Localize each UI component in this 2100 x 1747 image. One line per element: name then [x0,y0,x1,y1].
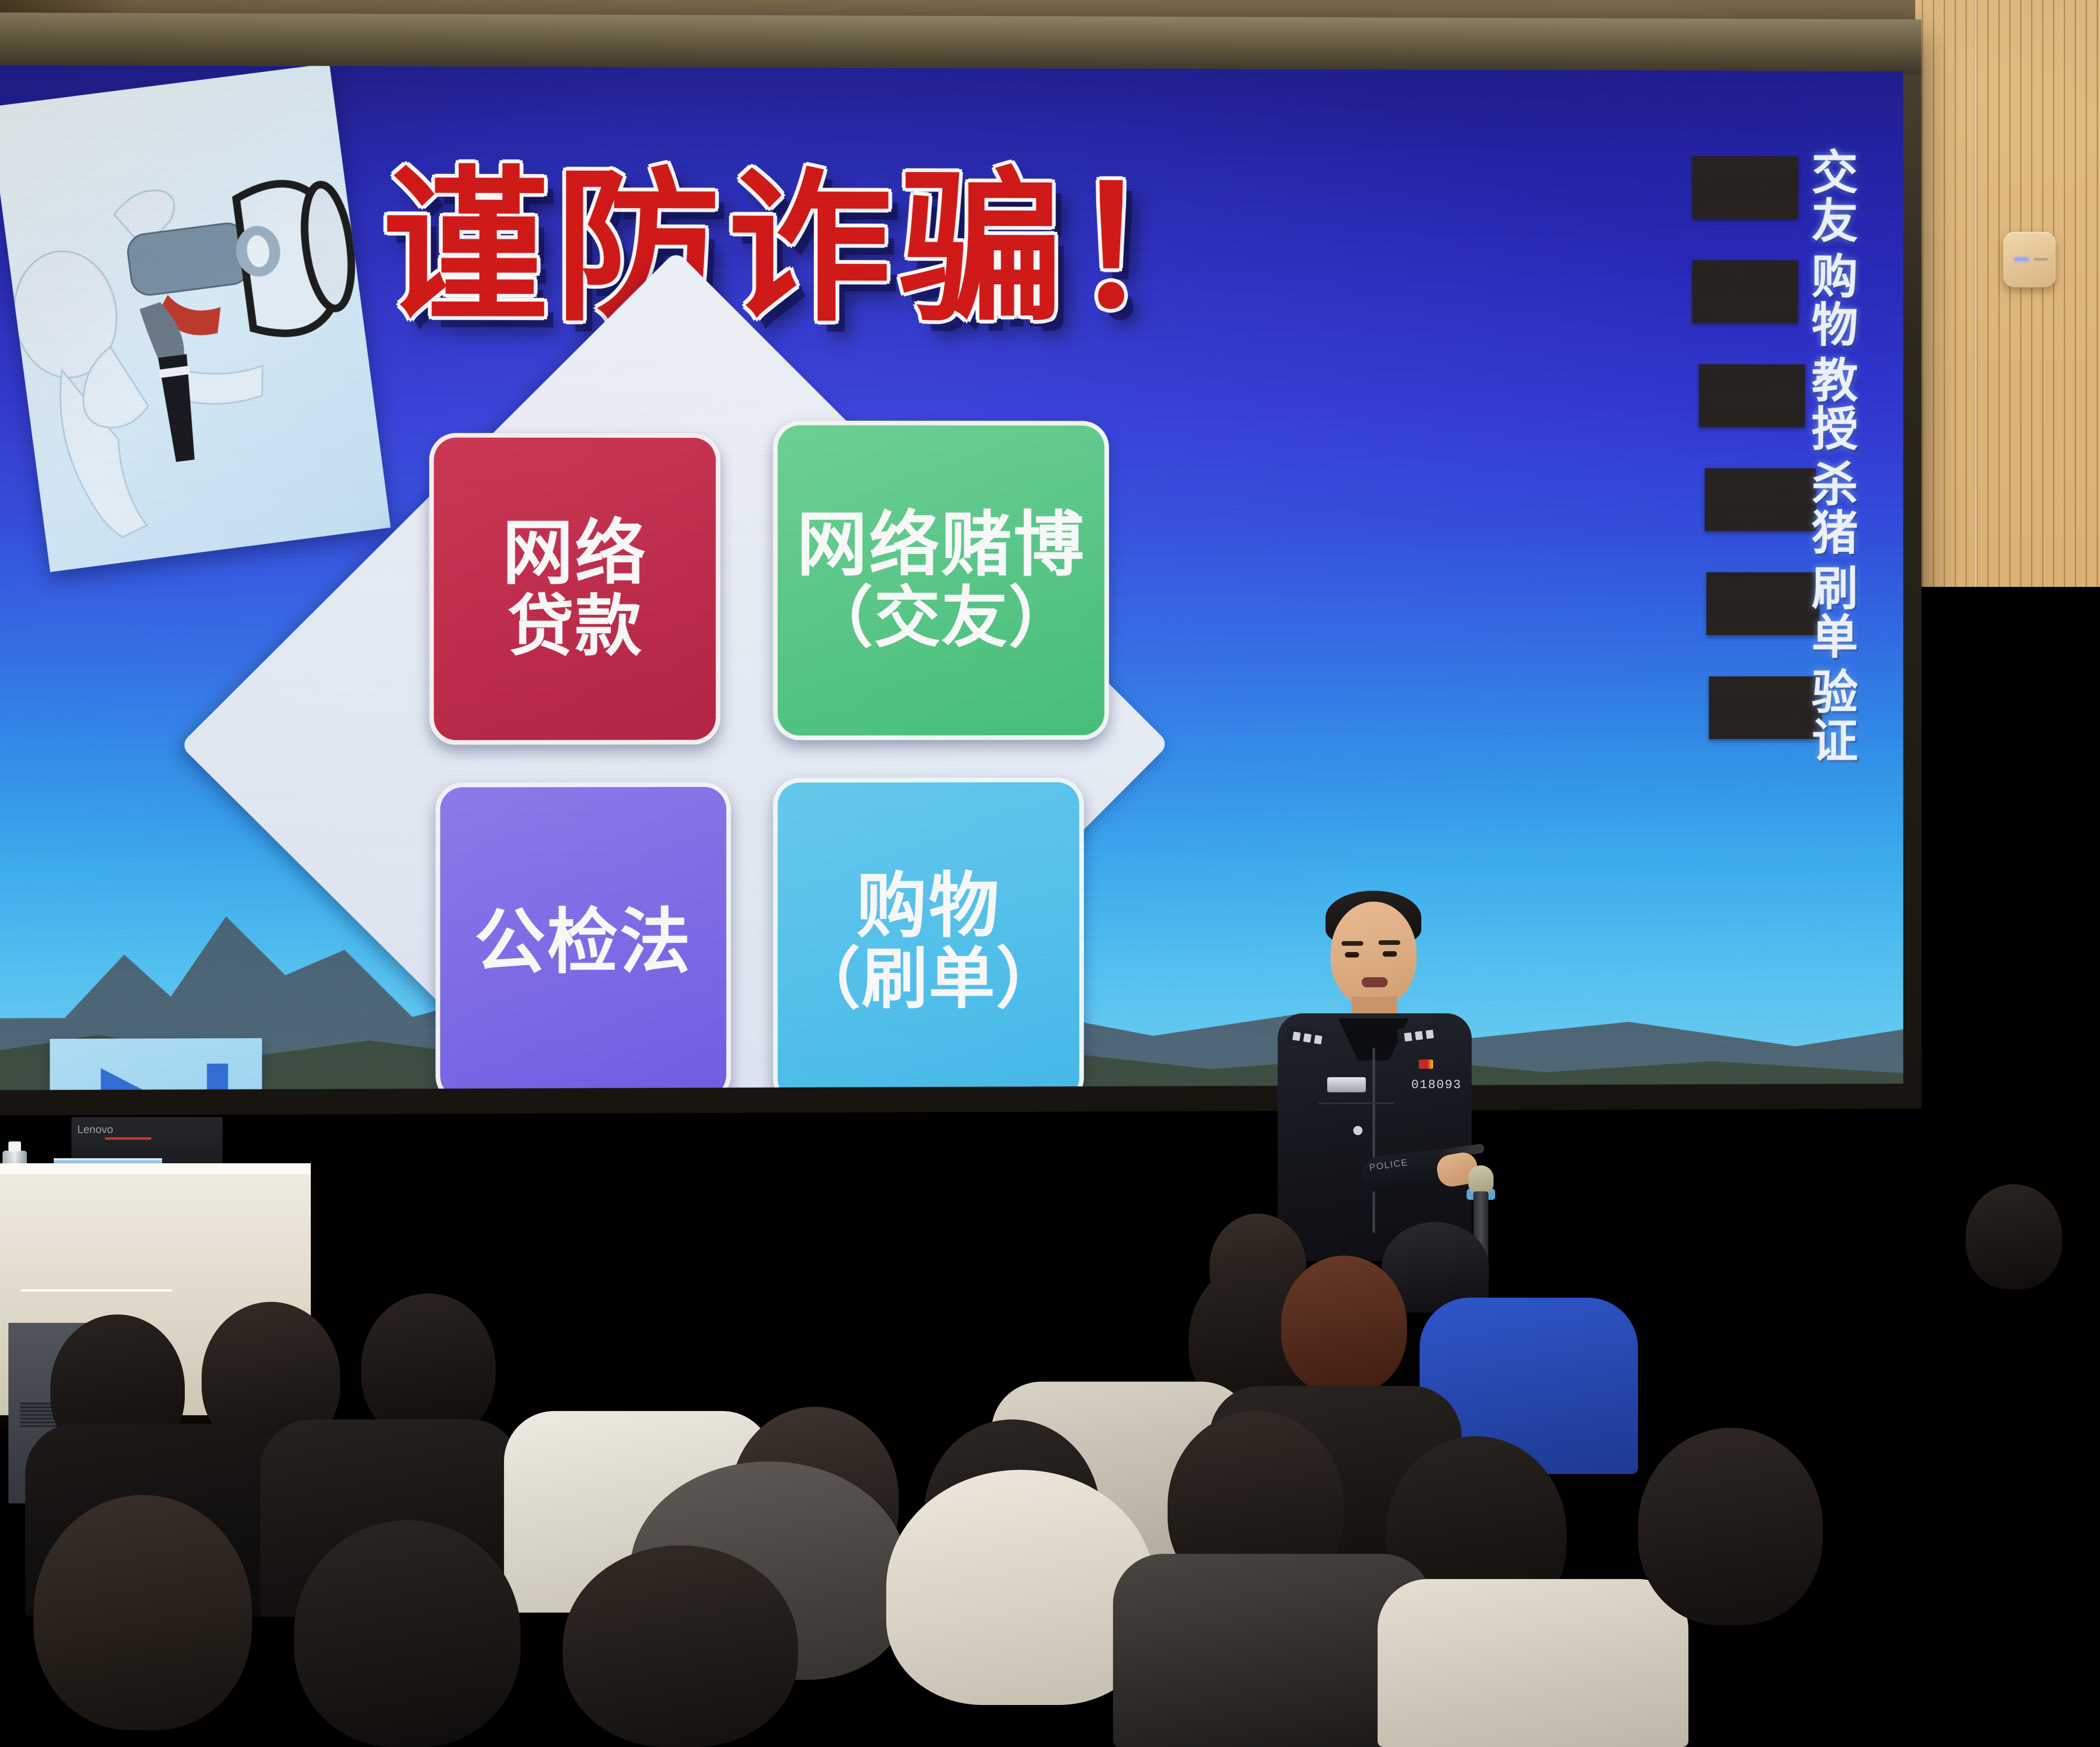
lecture-hall-photo: 谨防诈骗！ 网络 贷款 网络赌博 （交友） 公检法 购物 （刷单） [0,0,2100,1747]
photo-vignette [0,0,2100,1747]
